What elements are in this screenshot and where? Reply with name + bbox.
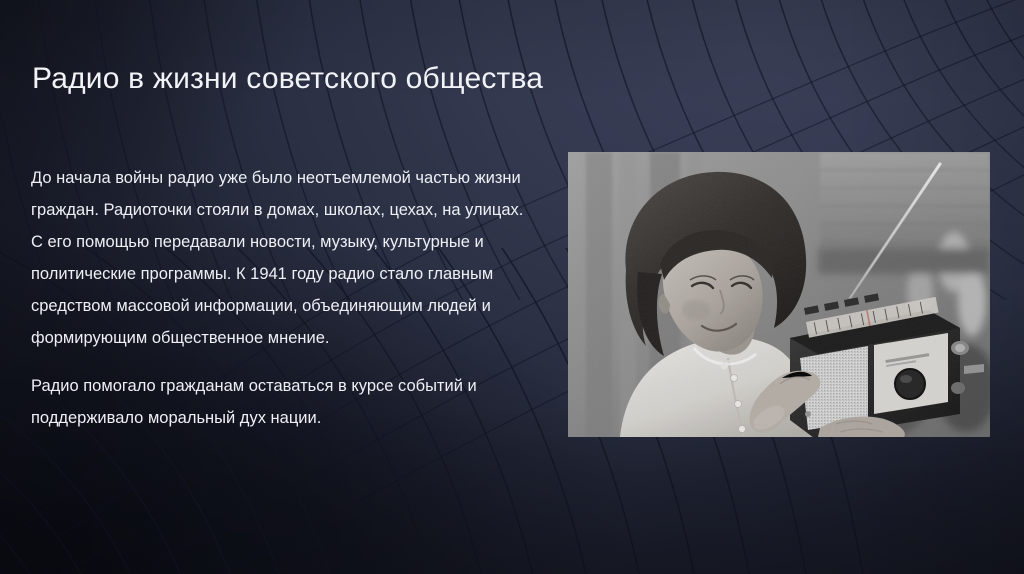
photo-woman-with-radio bbox=[568, 152, 990, 437]
presentation-slide: Радио в жизни советского общества До нач… bbox=[0, 0, 1024, 574]
paragraph-2: Радио помогало гражданам оставаться в ку… bbox=[31, 370, 526, 434]
page-title: Радио в жизни советского общества bbox=[32, 61, 732, 97]
body-text-block: До начала войны радио уже было неотъемле… bbox=[31, 162, 526, 434]
paragraph-1: До начала войны радио уже было неотъемле… bbox=[31, 162, 526, 354]
